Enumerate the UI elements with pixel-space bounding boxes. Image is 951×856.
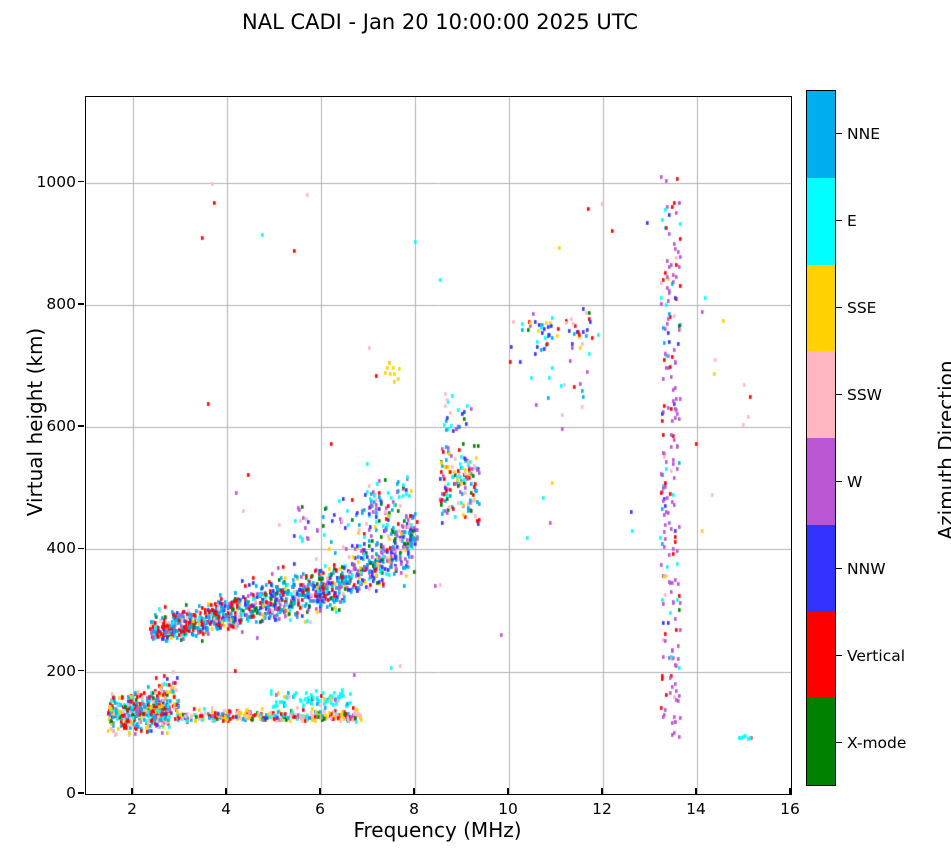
ionogram-figure: NAL CADI - Jan 20 10:00:00 2025 UTC 0200… [0,0,951,856]
x-tick-mark [789,788,790,794]
colorbar-label: Azimuth Direction [934,270,951,630]
colorbar-tick-w: W [836,473,862,491]
colorbar-tick-text: Vertical [847,647,905,665]
x-tick-mark [507,788,508,794]
colorbar-tick-ssw: SSW [836,386,882,404]
x-tick-label: 2 [127,800,137,818]
colorbar-tick-text: X-mode [847,734,906,752]
x-tick-label: 16 [780,800,800,818]
x-tick-label: 4 [221,800,231,818]
y-tick-mark [78,670,84,671]
colorbar-tick-nnw: NNW [836,560,886,578]
colorbar-tick-mark [836,568,842,569]
x-tick-label: 14 [686,800,706,818]
colorbar-tick-text: W [847,473,862,491]
colorbar-segment-nne[interactable] [807,91,835,178]
plot-axes[interactable] [85,96,792,795]
page-title: NAL CADI - Jan 20 10:00:00 2025 UTC [0,10,880,34]
colorbar-tick-nne: NNE [836,125,880,143]
x-tick-mark [695,788,696,794]
colorbar-segment-ssw[interactable] [807,351,835,438]
y-tick-mark [78,181,84,182]
x-tick-mark [601,788,602,794]
colorbar-tick-labels: NNEESSESSWWNNWVerticalX-mode [836,90,946,786]
colorbar-tick-text: E [847,212,857,230]
colorbar-segment-nnw[interactable] [807,525,835,612]
y-tick-mark [78,548,84,549]
y-tick-label: 800 [46,295,76,313]
colorbar-tick-mark [836,394,842,395]
x-tick-label: 6 [315,800,325,818]
colorbar-segment-vertical[interactable] [807,612,835,699]
y-tick-mark [78,425,84,426]
colorbar-tick-mark [836,481,842,482]
colorbar-tick-mark [836,742,842,743]
y-tick-label: 1000 [37,173,76,191]
colorbar-tick-vertical: Vertical [836,647,905,665]
colorbar-tick-sse: SSE [836,299,876,317]
colorbar-tick-mark [836,133,842,134]
colorbar-segment-w[interactable] [807,438,835,525]
colorbar-tick-mark [836,220,842,221]
colorbar[interactable] [806,90,836,786]
colorbar-tick-text: SSE [847,299,876,317]
colorbar-segment-x-mode[interactable] [807,698,835,785]
y-tick-mark [78,303,84,304]
x-tick-label: 10 [498,800,518,818]
y-axis-label: Virtual height (km) [23,242,47,602]
x-tick-label: 8 [409,800,419,818]
x-tick-label: 12 [592,800,612,818]
colorbar-tick-text: SSW [847,386,882,404]
x-tick-mark [225,788,226,794]
colorbar-tick-e: E [836,212,857,230]
scatter-data-layer [86,97,791,794]
colorbar-tick-text: NNW [847,560,886,578]
x-tick-mark [319,788,320,794]
colorbar-tick-mark [836,655,842,656]
colorbar-segment-sse[interactable] [807,265,835,352]
y-tick-label: 200 [46,662,76,680]
y-tick-label: 0 [66,784,76,802]
x-axis-label: Frequency (MHz) [85,818,790,842]
x-tick-mark [131,788,132,794]
colorbar-tick-mark [836,307,842,308]
colorbar-tick-text: NNE [847,125,880,143]
y-tick-label: 600 [46,417,76,435]
y-tick-label: 400 [46,539,76,557]
colorbar-segment-e[interactable] [807,178,835,265]
colorbar-tick-x-mode: X-mode [836,734,906,752]
y-tick-mark [78,792,84,793]
x-tick-mark [413,788,414,794]
